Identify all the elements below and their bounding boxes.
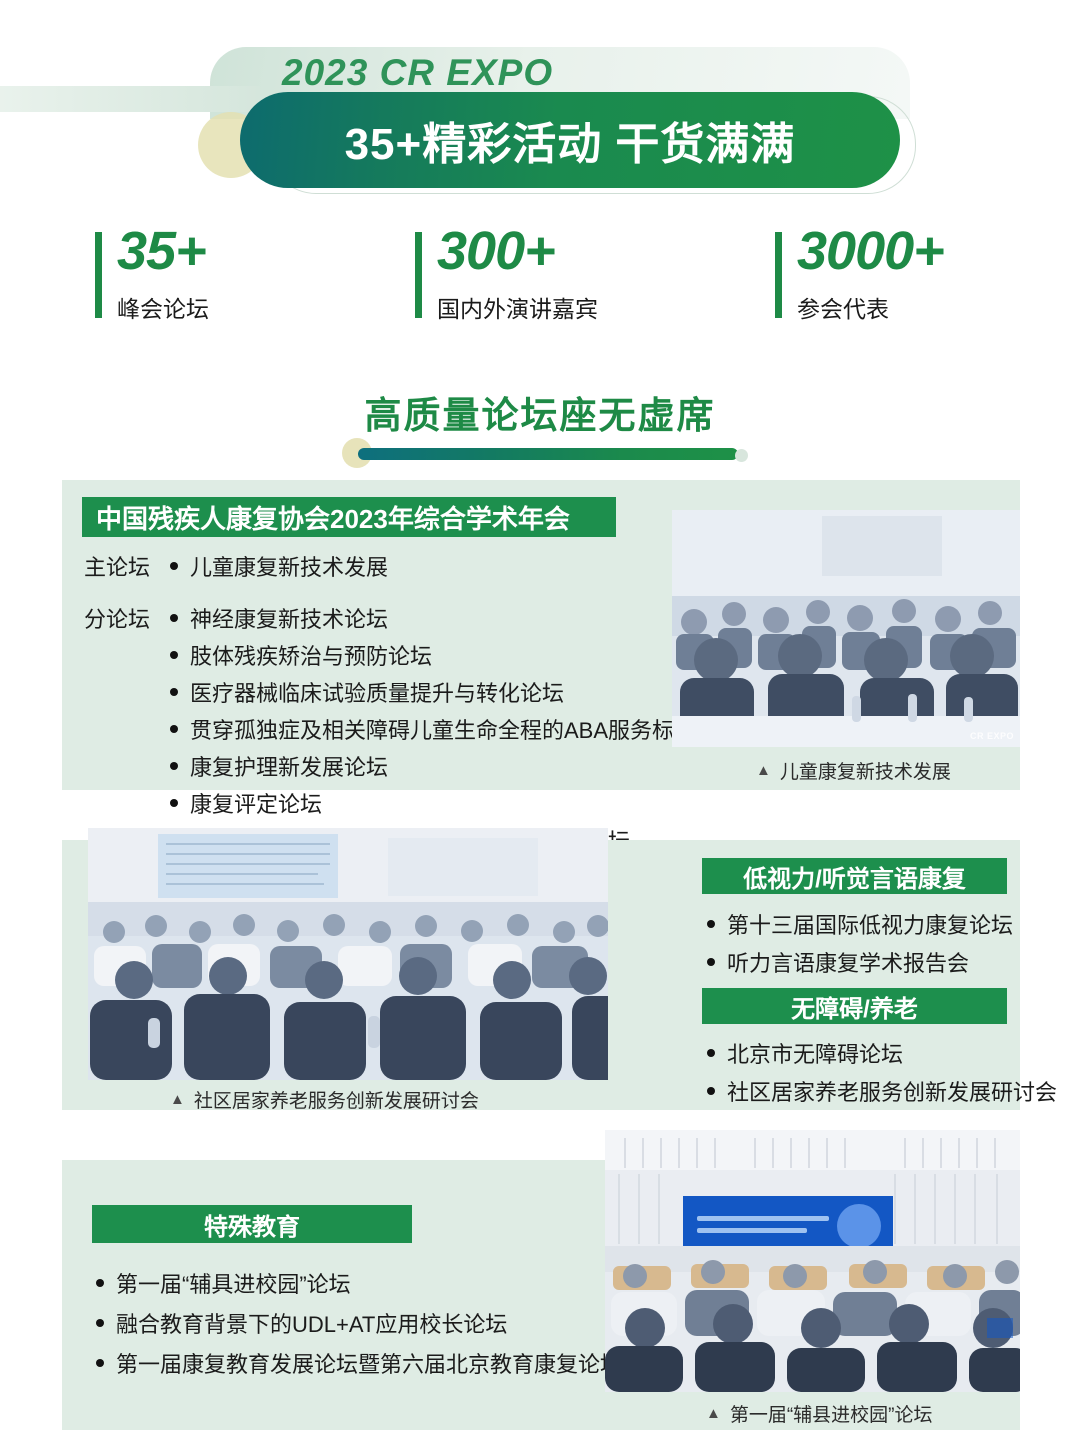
stat-accent-bar bbox=[95, 232, 102, 318]
special-education-text: 第一届康复教育发展论坛暨第六届北京教育康复论坛 bbox=[116, 1347, 622, 1379]
photo-children-rehab: CR EXPO bbox=[672, 510, 1020, 747]
bullet-dot-icon bbox=[707, 1049, 715, 1057]
page-header: 35+精彩活动 干货满满 2023 CR EXPO bbox=[0, 0, 1080, 210]
caption-text: 第一届“辅县进校园”论坛 bbox=[730, 1400, 933, 1427]
lowvision-text: 听力言语康复学术报告会 bbox=[727, 946, 969, 978]
sub-forum-text: 康复护理新发展论坛 bbox=[190, 750, 388, 782]
card1-banner: 中国残疾人康复协会2023年综合学术年会 bbox=[82, 497, 616, 537]
photo-illustration bbox=[605, 1130, 1020, 1392]
photo-eldercare-seminar bbox=[88, 828, 608, 1080]
sub-forum-text: 肢体残疾矫治与预防论坛 bbox=[190, 639, 432, 671]
triangle-marker-icon: ▲ bbox=[706, 1405, 721, 1422]
accessibility-text: 社区居家养老服务创新发展研讨会 bbox=[727, 1075, 1057, 1107]
accessibility-item: 社区居家养老服务创新发展研讨会 bbox=[707, 1075, 1057, 1107]
stat-label: 峰会论坛 bbox=[117, 290, 209, 324]
sub-forum-item: 医疗器械临床试验质量提升与转化论坛 bbox=[170, 676, 564, 708]
bullet-dot-icon bbox=[96, 1319, 104, 1327]
photo-illustration bbox=[672, 510, 1020, 747]
stat-label: 参会代表 bbox=[797, 290, 889, 324]
stat-number: 3000+ bbox=[797, 220, 944, 282]
bullet-dot-icon bbox=[170, 799, 178, 807]
lowvision-item: 听力言语康复学术报告会 bbox=[707, 946, 969, 978]
bullet-dot-icon bbox=[96, 1359, 104, 1367]
bullet-dot-icon bbox=[170, 762, 178, 770]
main-forum-text: 儿童康复新技术发展 bbox=[190, 550, 388, 582]
stat-number: 35+ bbox=[117, 220, 206, 282]
stats-row: 35+ 峰会论坛 300+ 国内外演讲嘉宾 3000+ 参会代表 bbox=[0, 228, 1080, 338]
heading-decor-circle-right bbox=[735, 449, 748, 462]
stat-accent-bar bbox=[415, 232, 422, 318]
bullet-dot-icon bbox=[170, 688, 178, 696]
stat-label: 国内外演讲嘉宾 bbox=[437, 290, 598, 324]
bullet-dot-icon bbox=[170, 651, 178, 659]
photo-caption-eldercare: ▲ 社区居家养老服务创新发展研讨会 bbox=[170, 1086, 479, 1113]
accessibility-text: 北京市无障碍论坛 bbox=[727, 1037, 903, 1069]
triangle-marker-icon: ▲ bbox=[170, 1091, 185, 1108]
page-title: 35+精彩活动 干货满满 bbox=[240, 92, 900, 188]
stat-accent-bar bbox=[775, 232, 782, 318]
photo-caption-assistive-device: ▲ 第一届“辅县进校园”论坛 bbox=[706, 1400, 933, 1427]
triangle-marker-icon: ▲ bbox=[756, 762, 771, 779]
special-education-item: 第一届“辅具进校园”论坛 bbox=[96, 1267, 351, 1299]
main-forum-item: 儿童康复新技术发展 bbox=[170, 550, 388, 582]
special-education-text: 融合教育背景下的UDL+AT应用校长论坛 bbox=[116, 1307, 507, 1339]
photo-watermark: CR EXPO bbox=[970, 732, 1014, 741]
sub-forum-item: 康复护理新发展论坛 bbox=[170, 750, 388, 782]
bullet-dot-icon bbox=[707, 1087, 715, 1095]
header-title-pill: 35+精彩活动 干货满满 bbox=[240, 92, 900, 188]
accessibility-item: 北京市无障碍论坛 bbox=[707, 1037, 903, 1069]
sub-forum-text: 医疗器械临床试验质量提升与转化论坛 bbox=[190, 676, 564, 708]
bullet-dot-icon bbox=[170, 614, 178, 622]
sub-forum-item: 肢体残疾矫治与预防论坛 bbox=[170, 639, 432, 671]
bullet-dot-icon bbox=[707, 920, 715, 928]
bullet-dot-icon bbox=[707, 958, 715, 966]
sub-forum-item: 康复评定论坛 bbox=[170, 787, 322, 819]
header-band-tail bbox=[0, 86, 260, 112]
bullet-dot-icon bbox=[170, 725, 178, 733]
sub-forum-text: 康复评定论坛 bbox=[190, 787, 322, 819]
sub-forum-item: 贯穿孤独症及相关障碍儿童生命全程的ABA服务标准 bbox=[170, 713, 696, 745]
special-education-text: 第一届“辅具进校园”论坛 bbox=[116, 1267, 351, 1299]
card2-banner-accessibility: 无障碍/养老 bbox=[702, 988, 1007, 1024]
main-forum-label: 主论坛 bbox=[84, 550, 150, 582]
section-heading: 高质量论坛座无虚席 bbox=[0, 385, 1080, 439]
caption-text: 社区居家养老服务创新发展研讨会 bbox=[194, 1086, 479, 1113]
lowvision-text: 第十三届国际低视力康复论坛 bbox=[727, 908, 1013, 940]
sub-forum-text: 神经康复新技术论坛 bbox=[190, 602, 388, 634]
sub-forum-label: 分论坛 bbox=[84, 602, 150, 634]
sub-forum-text: 贯穿孤独症及相关障碍儿童生命全程的ABA服务标准 bbox=[190, 713, 696, 745]
card3-banner: 特殊教育 bbox=[92, 1205, 412, 1243]
photo-illustration bbox=[88, 828, 608, 1080]
caption-text: 儿童康复新技术发展 bbox=[780, 757, 951, 784]
photo-caption-children-rehab: ▲ 儿童康复新技术发展 bbox=[756, 757, 951, 784]
special-education-item: 融合教育背景下的UDL+AT应用校长论坛 bbox=[96, 1307, 507, 1339]
photo-assistive-device-forum bbox=[605, 1130, 1020, 1392]
special-education-item: 第一届康复教育发展论坛暨第六届北京教育康复论坛 bbox=[96, 1347, 622, 1379]
lowvision-item: 第十三届国际低视力康复论坛 bbox=[707, 908, 1013, 940]
heading-underline-bar bbox=[358, 448, 738, 460]
expo-label: 2023 CR EXPO bbox=[282, 52, 553, 94]
card2-banner-lowvision: 低视力/听觉言语康复 bbox=[702, 858, 1007, 894]
stat-number: 300+ bbox=[437, 220, 555, 282]
sub-forum-item: 神经康复新技术论坛 bbox=[170, 602, 388, 634]
bullet-dot-icon bbox=[170, 562, 178, 570]
bullet-dot-icon bbox=[96, 1279, 104, 1287]
